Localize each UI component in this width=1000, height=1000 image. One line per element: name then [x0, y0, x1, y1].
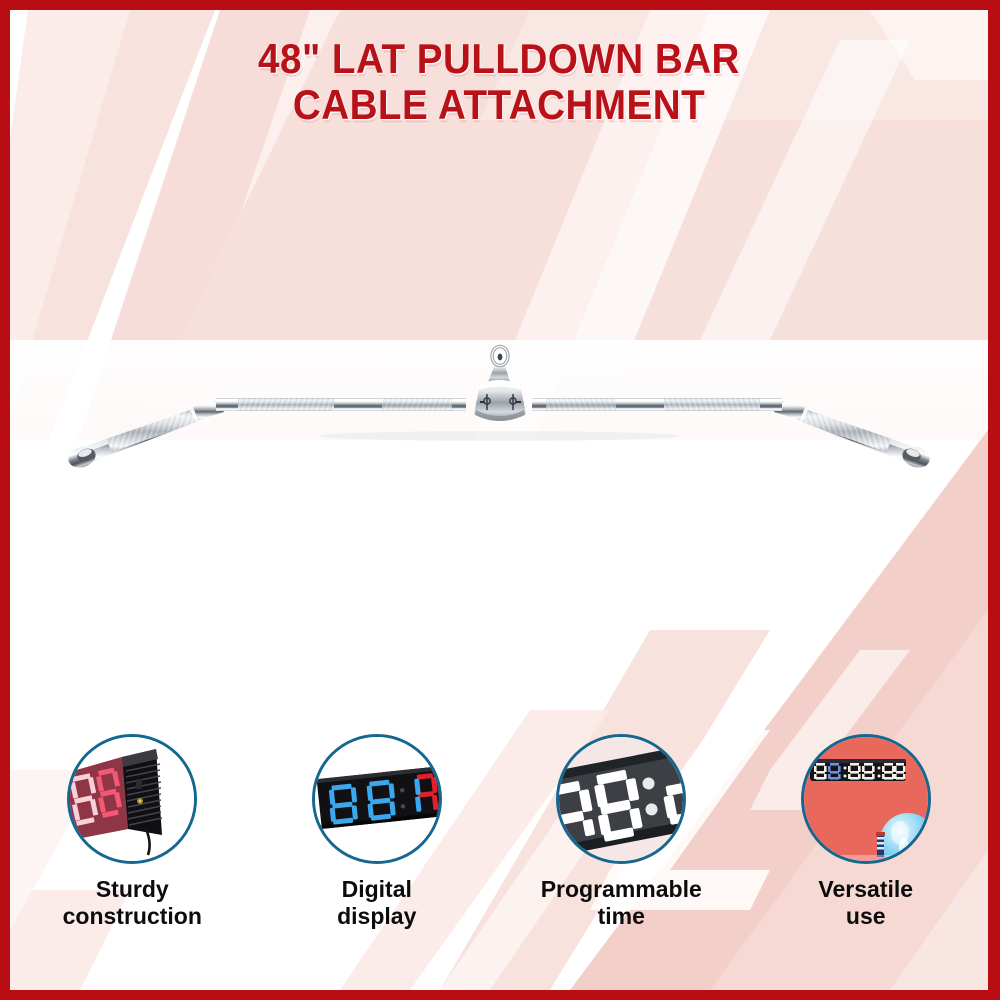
feature-programmable-time: Programmable time: [516, 734, 726, 930]
stand-silhouette: [876, 832, 885, 857]
product-image: [10, 310, 988, 540]
feature-label-digital-display: Digital display: [337, 876, 416, 930]
badge-circle-digital-display: [312, 734, 442, 864]
label-line-1: Programmable: [541, 876, 702, 903]
badge-circle-programmable-time: [556, 734, 686, 864]
feature-list: Sturdy construction: [10, 734, 988, 964]
blue-seven-segment-display-icon: [315, 737, 439, 861]
title-line-2: CABLE ATTACHMENT: [49, 82, 949, 128]
page-title: 48" LAT PULLDOWN BAR CABLE ATTACHMENT: [10, 36, 988, 128]
feature-label-versatile-use: Versatile use: [818, 876, 913, 930]
label-line-2: use: [818, 903, 913, 930]
led-timer-side-view-icon: [70, 737, 194, 861]
feature-label-programmable-time: Programmable time: [541, 876, 702, 930]
center-swivel-bracket: [474, 347, 526, 422]
badge-circle-sturdy-construction: [67, 734, 197, 864]
led-clock-bar: [810, 759, 906, 781]
banner-canvas: 48" LAT PULLDOWN BAR CABLE ATTACHMENT: [10, 10, 988, 990]
badge-circle-versatile-use: [801, 734, 931, 864]
label-line-1: Sturdy: [63, 876, 202, 903]
product-banner: 48" LAT PULLDOWN BAR CABLE ATTACHMENT: [0, 0, 1000, 1000]
label-line-1: Versatile: [818, 876, 913, 903]
feature-versatile-use: Versatile use: [761, 734, 971, 930]
feature-digital-display: Digital display: [272, 734, 482, 930]
label-line-1: Digital: [337, 876, 416, 903]
feature-label-sturdy-construction: Sturdy construction: [63, 876, 202, 930]
label-line-2: construction: [63, 903, 202, 930]
label-line-2: time: [541, 903, 702, 930]
feature-sturdy-construction: Sturdy construction: [27, 734, 237, 930]
led-clock-on-red-wall-icon: [804, 737, 928, 861]
seven-segment-macro-icon: [559, 737, 683, 861]
title-line-1: 48" LAT PULLDOWN BAR: [49, 36, 949, 82]
label-line-2: display: [337, 903, 416, 930]
lat-pulldown-bar-svg: [10, 310, 988, 540]
